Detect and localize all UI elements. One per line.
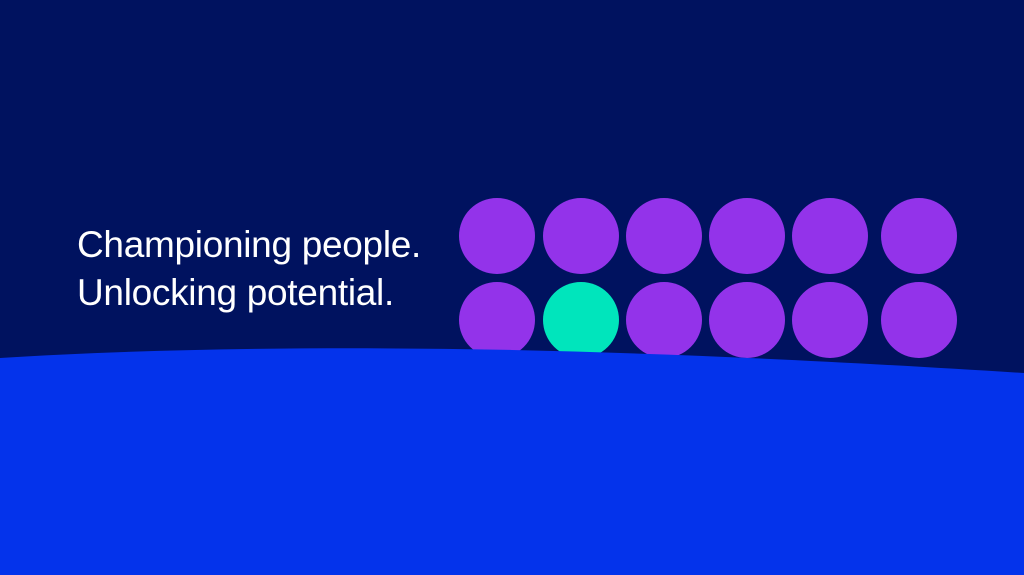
page-title: Championing people. Unlocking potential.: [77, 221, 447, 317]
dot-top-3: [626, 198, 702, 274]
dot-bottom-6: [881, 282, 957, 358]
dot-row-bottom: [459, 282, 957, 358]
dot-top-2: [543, 198, 619, 274]
slide-canvas: Championing people. Unlocking potential.: [0, 0, 1024, 575]
dot-top-5: [792, 198, 868, 274]
headline-line-2: Unlocking potential.: [77, 269, 447, 317]
dot-bottom-4: [709, 282, 785, 358]
dot-top-6: [881, 198, 957, 274]
dot-row-top: [459, 198, 957, 274]
dot-bottom-1: [459, 282, 535, 358]
dot-grid-graphic: [459, 198, 957, 358]
dot-bottom-3: [626, 282, 702, 358]
headline-line-1: Championing people.: [77, 221, 447, 269]
dot-top-1: [459, 198, 535, 274]
dot-top-4: [709, 198, 785, 274]
dot-bottom-5: [792, 282, 868, 358]
dot-bottom-2-highlight: [543, 282, 619, 358]
